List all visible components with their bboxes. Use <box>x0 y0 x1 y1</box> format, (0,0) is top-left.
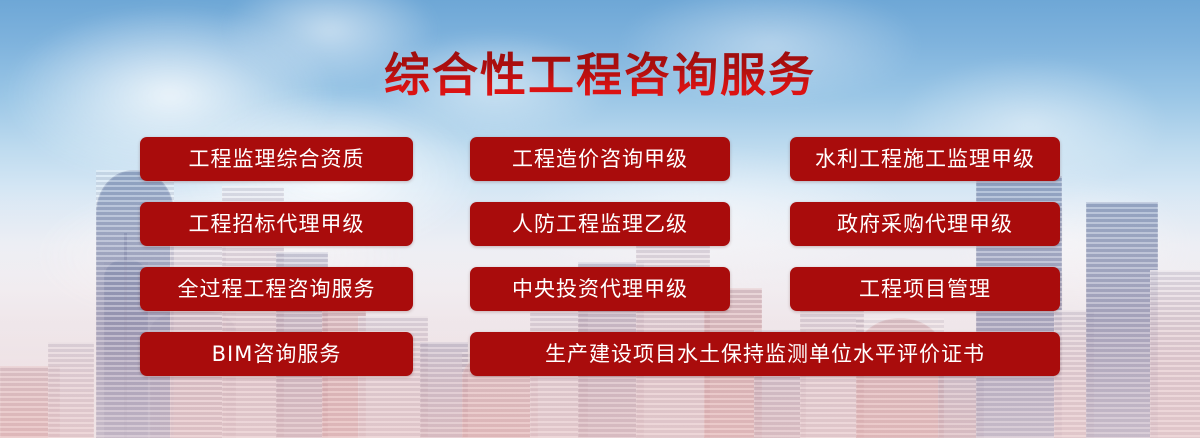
qualification-badge[interactable]: 人防工程监理乙级 <box>470 202 730 246</box>
qualification-badge[interactable]: 工程造价咨询甲级 <box>470 137 730 181</box>
qualification-badge[interactable]: 政府采购代理甲级 <box>790 202 1060 246</box>
qualification-badge[interactable]: 全过程工程咨询服务 <box>140 267 413 311</box>
qualification-badge[interactable]: 水利工程施工监理甲级 <box>790 137 1060 181</box>
qualification-badge[interactable]: 工程监理综合资质 <box>140 137 413 181</box>
badge-row: 工程监理综合资质 工程造价咨询甲级 水利工程施工监理甲级 <box>0 137 1200 202</box>
qualification-badge[interactable]: 生产建设项目水土保持监测单位水平评价证书 <box>470 332 1060 376</box>
banner-content: 综合性工程咨询服务 工程监理综合资质 工程造价咨询甲级 水利工程施工监理甲级 工… <box>0 0 1200 438</box>
badge-row: 全过程工程咨询服务 中央投资代理甲级 工程项目管理 <box>0 267 1200 332</box>
page-title: 综合性工程咨询服务 <box>0 50 1200 101</box>
qualification-badge[interactable]: BIM咨询服务 <box>140 332 413 376</box>
badge-row: BIM咨询服务 生产建设项目水土保持监测单位水平评价证书 <box>0 332 1200 397</box>
qualification-badge[interactable]: 工程招标代理甲级 <box>140 202 413 246</box>
qualification-badge[interactable]: 中央投资代理甲级 <box>470 267 730 311</box>
qualification-badge-grid: 工程监理综合资质 工程造价咨询甲级 水利工程施工监理甲级 工程招标代理甲级 人防… <box>0 137 1200 397</box>
badge-row: 工程招标代理甲级 人防工程监理乙级 政府采购代理甲级 <box>0 202 1200 267</box>
qualification-badge[interactable]: 工程项目管理 <box>790 267 1060 311</box>
service-qualifications-banner: 综合性工程咨询服务 工程监理综合资质 工程造价咨询甲级 水利工程施工监理甲级 工… <box>0 0 1200 438</box>
